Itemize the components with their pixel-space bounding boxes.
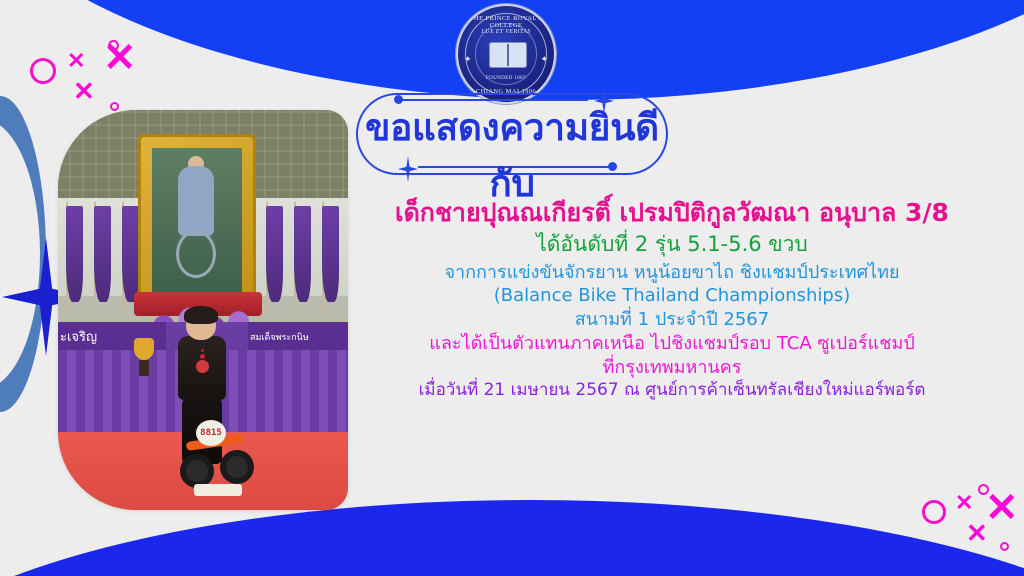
doodle-x-large: ✕	[103, 38, 137, 78]
photo-bike-number: 8815	[196, 420, 226, 446]
seal-founded-text: FOUNDED 1887	[458, 76, 554, 81]
round-line: สนามที่ 1 ประจำปี 2567	[352, 308, 992, 332]
doodle-x: ✕	[955, 492, 973, 514]
photo-medal	[196, 360, 209, 373]
event-english-line: (Balance Bike Thailand Championships)	[352, 284, 992, 308]
photo-trophy	[132, 338, 156, 378]
photo-royal-portrait	[152, 148, 242, 296]
doodle-x: ✕	[67, 50, 85, 72]
seal-star-right-icon: ✦	[540, 54, 548, 65]
college-seal-icon: THE PRINCE ROYAL'S COLLEGE LUX ET VERITA…	[456, 4, 556, 104]
doodle-ring	[30, 58, 56, 84]
doodle-x-large: ✕	[985, 488, 1019, 528]
photo-student-hair	[184, 306, 218, 324]
seal-star-left-icon: ✦	[464, 54, 472, 65]
doodle-x: ✕	[966, 520, 988, 546]
place-line: ที่กรุงเทพมหานคร	[352, 356, 992, 380]
citation-block: เด็กชายปุณณเกียรติ์ เปรมปิติกูลวัฒณา อนุ…	[352, 196, 992, 402]
doodle-x: ✕	[73, 78, 95, 104]
representative-line: และได้เป็นตัวแทนภาคเหนือ ไปชิงแชมป์รอบ T…	[352, 332, 992, 356]
rank-line: ได้อันดับที่ 2 รุ่น 5.1-5.6 ขวบ	[352, 231, 992, 259]
open-book-icon	[489, 42, 527, 68]
doodle-ring-small	[1000, 542, 1009, 551]
blue-bottom-swoosh	[0, 500, 1024, 576]
poster-canvas: ✕ ✕ ✕ ✕ ✕ ✕ ะเจริญ สมเด็จ	[0, 0, 1024, 576]
doodle-ring	[922, 500, 946, 524]
award-photo: ะเจริญ สมเด็จพระกนิษ 8815	[58, 110, 348, 510]
seal-top-text: THE PRINCE ROYAL'S COLLEGE	[458, 15, 554, 29]
photo-banner-right-text: สมเด็จพระกนิษ	[250, 330, 309, 344]
student-name-line: เด็กชายปุณณเกียรติ์ เปรมปิติกูลวัฒณา อนุ…	[352, 196, 992, 229]
seal-motto: LUX ET VERITAS	[458, 29, 554, 35]
photo-balance-bike: 8815	[180, 410, 256, 492]
page-title: ขอแสดงความยินดีกับ	[356, 100, 668, 211]
date-venue-line: เมื่อวันที่ 21 เมษายน 2567 ณ ศูนย์การค้า…	[352, 379, 992, 401]
photo-banner-left-text: ะเจริญ	[60, 326, 97, 347]
event-thai-line: จากการแข่งขันจักรยาน หนูน้อยขาไถ ชิงแชมป…	[352, 261, 992, 285]
